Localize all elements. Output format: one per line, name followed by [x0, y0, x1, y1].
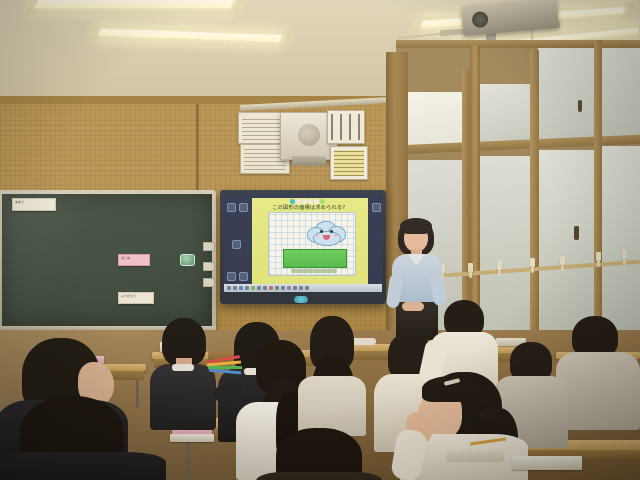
- toolbar-icon-4[interactable]: [245, 286, 249, 290]
- toolbar-icon-5[interactable]: [251, 286, 255, 290]
- student-front-left-b: [0, 396, 166, 480]
- green-magnet[interactable]: [180, 254, 195, 266]
- cloud-cheek-right: [334, 234, 338, 237]
- sliding-door-handle[interactable]: [574, 226, 579, 240]
- student-body: [0, 452, 166, 480]
- whiteboard-grid-canvas[interactable]: [268, 212, 356, 276]
- blackboard-clip-3: [203, 278, 215, 287]
- toolbar-icon-9[interactable]: [275, 286, 279, 290]
- toolbar-icon-13[interactable]: [299, 286, 303, 290]
- whiteboard-side-button-3[interactable]: [227, 272, 236, 281]
- green-rectangle[interactable]: [283, 249, 347, 268]
- lesson-question-text: この図形の面積は求められる？: [254, 205, 366, 211]
- tool-dot-1[interactable]: [290, 199, 295, 204]
- toolbar-icon-10[interactable]: [281, 286, 285, 290]
- tool-dot-2[interactable]: [296, 199, 301, 204]
- blackboard-clip-1: [203, 242, 215, 251]
- transom-glass-4: [600, 40, 640, 138]
- whiteboard-screen[interactable]: この図形の面積は求められる？: [224, 194, 382, 292]
- speaker-bracket: [292, 156, 326, 166]
- whiteboard-side-button-5[interactable]: [372, 203, 381, 212]
- whiteboard-side-button-2[interactable]: [239, 203, 248, 212]
- teacher-hands: [402, 302, 424, 311]
- tool-dot-5[interactable]: [314, 199, 319, 204]
- blackboard-card-furikaeri: ふりかえり: [118, 292, 154, 304]
- student-body: [298, 376, 366, 436]
- student-bottom-center: [256, 428, 382, 480]
- transom-latch[interactable]: [578, 100, 582, 112]
- toolbar-icon-11[interactable]: [287, 286, 291, 290]
- toolbar-icon-3[interactable]: [239, 286, 243, 290]
- cloud-cheek-left: [315, 234, 319, 237]
- partition-mullion-3: [594, 40, 602, 346]
- whiteboard-caption-strip: [291, 269, 337, 273]
- tool-dot-6[interactable]: [320, 199, 325, 204]
- whiteboard-tool-dots[interactable]: [290, 199, 325, 204]
- partition-glass-4: [600, 146, 640, 342]
- toolbar-icon-14[interactable]: [305, 286, 309, 290]
- toolbar-icon-6[interactable]: [257, 286, 261, 290]
- student-collar: [172, 364, 194, 371]
- student-body: [556, 352, 640, 430]
- poster-right-lower: [330, 146, 368, 180]
- classroom-photo: めあて まとめ ふりかえり この図形の面積は求められる？: [0, 0, 640, 480]
- blackboard-card-meate: めあて: [12, 198, 56, 211]
- projector-lens: [471, 11, 488, 28]
- student-center-stripe: [296, 316, 368, 436]
- whiteboard-side-button-4[interactable]: [239, 272, 248, 281]
- partition-rail-top: [396, 40, 640, 48]
- tool-dot-3[interactable]: [302, 199, 307, 204]
- tool-dot-4[interactable]: [308, 199, 313, 204]
- transom-glass-1: [400, 92, 464, 148]
- wall-seam: [196, 104, 199, 204]
- speaker-cone: [298, 124, 320, 146]
- whiteboard-power-button[interactable]: [294, 296, 308, 303]
- toolbar-icon-2[interactable]: [233, 286, 237, 290]
- fluorescent-light-1: [26, 0, 243, 14]
- teacher-hair-fringe: [400, 218, 432, 234]
- blackboard-clip-2: [203, 262, 215, 271]
- whiteboard-lesson-page: この図形の面積は求められる？: [252, 198, 368, 284]
- transom-glass-3: [538, 46, 598, 142]
- blackboard-card-matome: まとめ: [118, 254, 150, 266]
- toolbar-icon-1[interactable]: [227, 286, 231, 290]
- pencil-case: [446, 446, 504, 462]
- partition-mullion-2: [530, 50, 539, 346]
- sliding-door-glass[interactable]: [538, 150, 596, 342]
- whiteboard-side-button-6[interactable]: [232, 240, 241, 249]
- whiteboard-side-button-1[interactable]: [227, 203, 236, 212]
- textbook-stack: [170, 434, 214, 442]
- whiteboard-bottom-toolbar[interactable]: [224, 284, 382, 292]
- coat-hook-4[interactable]: [497, 261, 502, 270]
- student-far-right: [556, 316, 640, 436]
- coat-hook-7[interactable]: [596, 252, 601, 261]
- coat-hook-5[interactable]: [530, 258, 535, 267]
- cloud-shape: [307, 221, 345, 245]
- toolbar-icon-7[interactable]: [263, 286, 267, 290]
- poster-right: [327, 110, 365, 144]
- poster-left: [238, 112, 284, 144]
- coat-hook-6[interactable]: [560, 256, 565, 265]
- toolbar-icon-8[interactable]: [269, 286, 273, 290]
- coat-hook-3[interactable]: [468, 263, 473, 272]
- notebook: [512, 456, 582, 470]
- toolbar-icon-12[interactable]: [293, 286, 297, 290]
- coat-hook-8[interactable]: [622, 250, 627, 259]
- student-body: [256, 472, 382, 480]
